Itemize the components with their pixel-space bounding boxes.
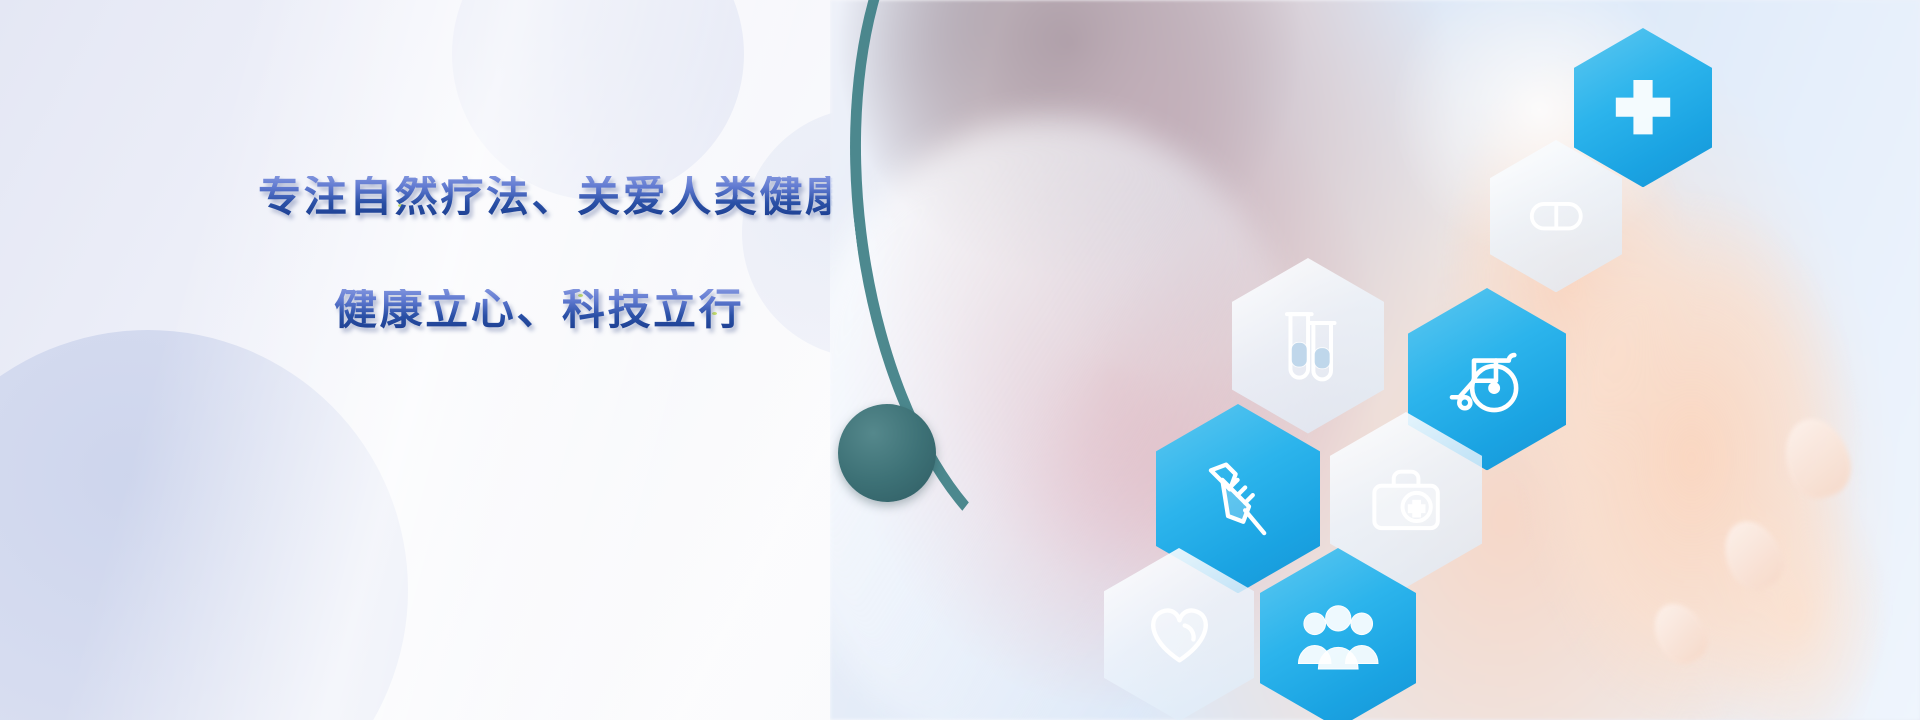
test-tubes-icon [1264, 295, 1352, 397]
family-group-icon [1293, 586, 1383, 690]
wheelchair-icon [1441, 326, 1533, 432]
capsule-pill-icon [1518, 172, 1595, 260]
hex-test-tubes[interactable] [1232, 258, 1384, 434]
syringe-icon [1190, 444, 1285, 554]
hexagon-icon-grid [0, 0, 1920, 720]
health-banner: 专注自然疗法、关爱人类健康 健康立心、科技立行 [0, 0, 1920, 720]
heart-pulse-icon [1136, 584, 1223, 684]
medical-cross-icon [1603, 61, 1683, 153]
medical-bag-icon [1362, 449, 1450, 551]
